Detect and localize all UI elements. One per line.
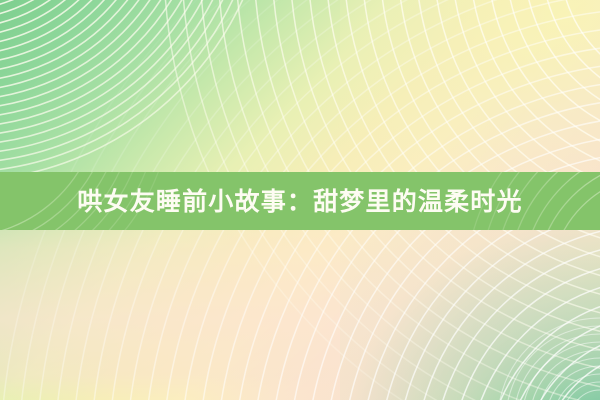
banner-title: 哄女友睡前小故事：甜梦里的温柔时光 — [77, 189, 522, 214]
banner-graphic: 哄女友睡前小故事：甜梦里的温柔时光 — [0, 0, 600, 400]
title-band: 哄女友睡前小故事：甜梦里的温柔时光 — [0, 172, 600, 230]
